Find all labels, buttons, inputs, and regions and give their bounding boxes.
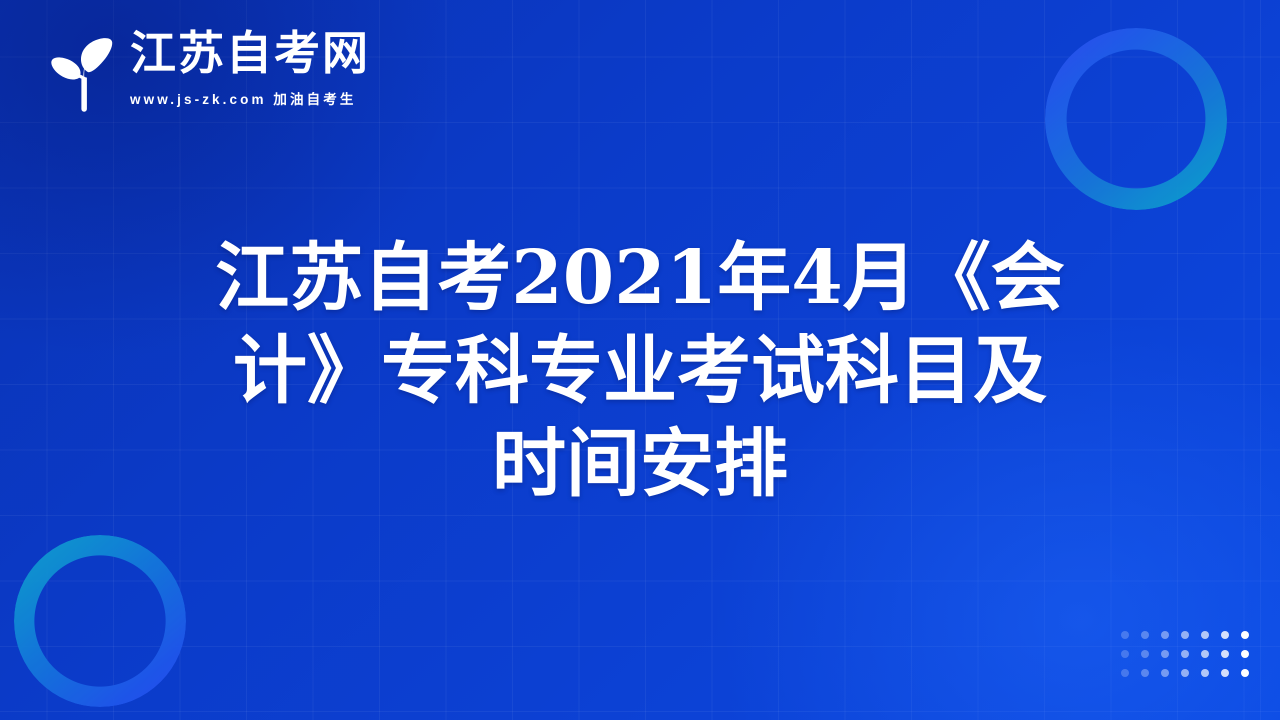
dot — [1221, 669, 1229, 677]
dot — [1241, 650, 1249, 658]
page-title: 江苏自考2021年4月《会 计》专科专业考试科目及 时间安排 — [180, 232, 1100, 511]
dot — [1161, 669, 1169, 677]
sprout-icon — [34, 26, 126, 118]
dot — [1201, 650, 1209, 658]
decorative-dot-matrix — [1121, 631, 1261, 688]
page-title-line-1: 江苏自考2021年4月《会 — [180, 232, 1100, 325]
dot — [1221, 631, 1229, 639]
dot — [1181, 650, 1189, 658]
dot — [1221, 650, 1229, 658]
dot — [1141, 650, 1149, 658]
promo-banner: 江苏自考网 www.js-zk.com 加油自考生 江苏自考2021年4月《会 … — [0, 0, 1280, 720]
dot — [1181, 631, 1189, 639]
dot — [1141, 669, 1149, 677]
dot — [1161, 650, 1169, 658]
dot — [1141, 631, 1149, 639]
dot — [1201, 669, 1209, 677]
site-logo[interactable]: 江苏自考网 www.js-zk.com 加油自考生 — [34, 24, 370, 118]
dot — [1121, 669, 1129, 677]
dot — [1161, 631, 1169, 639]
page-title-line-2: 计》专科专业考试科目及 — [180, 325, 1100, 418]
dot — [1241, 631, 1249, 639]
brand-name: 江苏自考网 — [130, 30, 370, 77]
brand-tagline: www.js-zk.com 加油自考生 — [130, 88, 370, 108]
decorative-ring-top-right — [1045, 28, 1227, 210]
dot — [1121, 631, 1129, 639]
dot — [1181, 669, 1189, 677]
decorative-ring-bottom-left — [14, 535, 186, 707]
dot — [1241, 669, 1249, 677]
dot — [1121, 650, 1129, 658]
dot — [1201, 631, 1209, 639]
page-title-line-3: 时间安排 — [180, 418, 1100, 511]
